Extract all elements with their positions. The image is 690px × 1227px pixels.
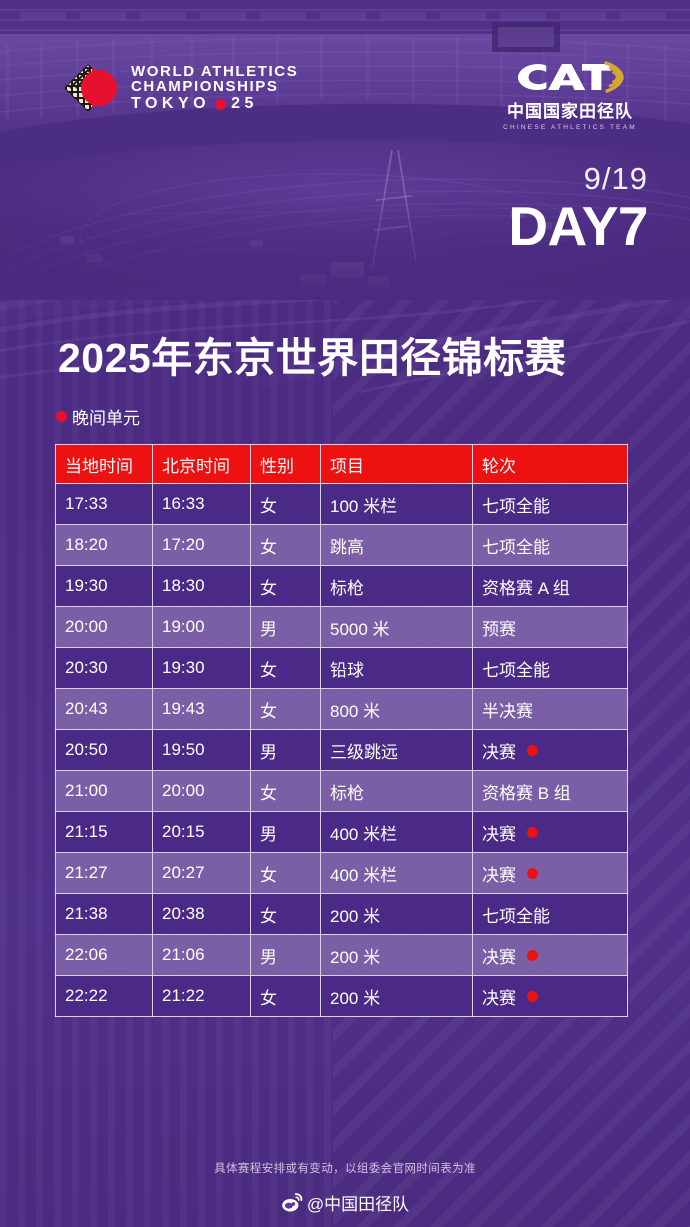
- final-marker-icon: [527, 827, 538, 838]
- table-row: 17:3316:33女100 米栏七项全能: [56, 484, 628, 525]
- cell-event: 标枪: [321, 771, 473, 812]
- round-content: 决赛: [482, 984, 618, 1009]
- cell-gender: 女: [251, 976, 321, 1017]
- footer-social-handle[interactable]: @中国田径队: [0, 1190, 690, 1215]
- round-text: 七项全能: [482, 902, 550, 927]
- date-block: 9/19 DAY7: [508, 163, 648, 256]
- final-marker-icon: [527, 868, 538, 879]
- cell-gender: 女: [251, 648, 321, 689]
- round-content: 决赛: [482, 738, 618, 763]
- cell-beijing-time: 20:38: [153, 894, 251, 935]
- cell-local-time: 17:33: [56, 484, 153, 525]
- cell-local-time: 22:22: [56, 976, 153, 1017]
- cell-event: 200 米: [321, 976, 473, 1017]
- wa-city: TOKYO: [131, 96, 210, 112]
- cell-round: 资格赛 B 组: [473, 771, 628, 812]
- cell-event: 800 米: [321, 689, 473, 730]
- cell-local-time: 20:00: [56, 607, 153, 648]
- cell-local-time: 20:43: [56, 689, 153, 730]
- cell-round: 半决赛: [473, 689, 628, 730]
- footer-disclaimer: 具体赛程安排或有变动，以组委会官网时间表为准: [0, 1160, 690, 1176]
- cell-gender: 女: [251, 894, 321, 935]
- cell-local-time: 21:27: [56, 853, 153, 894]
- cell-beijing-time: 19:43: [153, 689, 251, 730]
- cell-event: 200 米: [321, 935, 473, 976]
- cell-local-time: 20:30: [56, 648, 153, 689]
- column-header-event: 项目: [321, 445, 473, 484]
- table-row: 21:1520:15男400 米栏决赛: [56, 812, 628, 853]
- schedule-table-wrapper: 当地时间 北京时间 性别 项目 轮次 17:3316:33女100 米栏七项全能…: [55, 444, 627, 1017]
- cell-local-time: 22:06: [56, 935, 153, 976]
- team-name-cn: 中国国家田径队: [490, 97, 650, 122]
- round-text: 决赛: [482, 738, 516, 763]
- cell-local-time: 21:00: [56, 771, 153, 812]
- cell-round: 决赛: [473, 976, 628, 1017]
- table-row: 20:4319:43女800 米半决赛: [56, 689, 628, 730]
- cell-round: 预赛: [473, 607, 628, 648]
- round-content: 七项全能: [482, 492, 618, 517]
- cell-round: 七项全能: [473, 525, 628, 566]
- round-content: 预赛: [482, 615, 618, 640]
- round-content: 七项全能: [482, 533, 618, 558]
- cell-event: 5000 米: [321, 607, 473, 648]
- table-row: 18:2017:20女跳高七项全能: [56, 525, 628, 566]
- final-marker-icon: [527, 991, 538, 1002]
- round-content: 七项全能: [482, 902, 618, 927]
- round-text: 七项全能: [482, 533, 550, 558]
- wa-line-1: WORLD ATHLETICS: [131, 64, 298, 79]
- cell-event: 铅球: [321, 648, 473, 689]
- round-text: 决赛: [482, 943, 516, 968]
- cell-beijing-time: 21:06: [153, 935, 251, 976]
- cell-event: 100 米栏: [321, 484, 473, 525]
- final-marker-icon: [527, 745, 538, 756]
- cell-gender: 男: [251, 607, 321, 648]
- cell-beijing-time: 19:30: [153, 648, 251, 689]
- date-value: 9/19: [508, 163, 648, 194]
- cell-gender: 女: [251, 525, 321, 566]
- red-dot-icon: [56, 411, 67, 422]
- round-content: 资格赛 B 组: [482, 779, 618, 804]
- cell-gender: 女: [251, 853, 321, 894]
- round-text: 资格赛 B 组: [482, 779, 571, 804]
- table-row: 22:0621:06男200 米决赛: [56, 935, 628, 976]
- cell-beijing-time: 17:20: [153, 525, 251, 566]
- cell-gender: 女: [251, 689, 321, 730]
- weibo-icon: [281, 1193, 303, 1212]
- round-content: 半决赛: [482, 697, 618, 722]
- cell-beijing-time: 20:15: [153, 812, 251, 853]
- round-text: 七项全能: [482, 656, 550, 681]
- cell-beijing-time: 21:22: [153, 976, 251, 1017]
- column-header-beijing-time: 北京时间: [153, 445, 251, 484]
- cell-round: 决赛: [473, 935, 628, 976]
- table-row: 22:2221:22女200 米决赛: [56, 976, 628, 1017]
- cell-gender: 男: [251, 812, 321, 853]
- world-athletics-logo: WORLD ATHLETICS CHAMPIONSHIPS TOKYO 25: [62, 62, 298, 114]
- cell-round: 资格赛 A 组: [473, 566, 628, 607]
- chinese-athletics-team-logo: 中国国家田径队 CHINESE ATHLETICS TEAM: [490, 58, 650, 131]
- round-content: 七项全能: [482, 656, 618, 681]
- round-text: 半决赛: [482, 697, 533, 722]
- table-row: 21:2720:27女400 米栏决赛: [56, 853, 628, 894]
- tokyo25-emblem-icon: [62, 62, 122, 114]
- cell-beijing-time: 16:33: [153, 484, 251, 525]
- cell-event: 400 米栏: [321, 853, 473, 894]
- cell-event: 200 米: [321, 894, 473, 935]
- cell-gender: 男: [251, 935, 321, 976]
- table-row: 21:0020:00女标枪资格赛 B 组: [56, 771, 628, 812]
- team-name-en: CHINESE ATHLETICS TEAM: [490, 124, 650, 131]
- column-header-local-time: 当地时间: [56, 445, 153, 484]
- cell-event: 400 米栏: [321, 812, 473, 853]
- cat-monogram-icon: [510, 58, 630, 94]
- round-text: 决赛: [482, 984, 516, 1009]
- cell-gender: 女: [251, 566, 321, 607]
- cell-round: 决赛: [473, 730, 628, 771]
- round-text: 决赛: [482, 861, 516, 886]
- cell-beijing-time: 20:00: [153, 771, 251, 812]
- page-title: 2025年东京世界田径锦标赛: [58, 324, 566, 384]
- round-text: 七项全能: [482, 492, 550, 517]
- round-text: 预赛: [482, 615, 516, 640]
- cell-round: 决赛: [473, 812, 628, 853]
- column-header-gender: 性别: [251, 445, 321, 484]
- social-handle-text: @中国田径队: [307, 1190, 409, 1215]
- world-athletics-wordmark: WORLD ATHLETICS CHAMPIONSHIPS TOKYO 25: [131, 64, 298, 112]
- round-content: 决赛: [482, 820, 618, 845]
- cell-round: 七项全能: [473, 484, 628, 525]
- cell-local-time: 21:38: [56, 894, 153, 935]
- final-marker-icon: [527, 950, 538, 961]
- round-content: 资格赛 A 组: [482, 574, 618, 599]
- cell-beijing-time: 19:00: [153, 607, 251, 648]
- round-content: 决赛: [482, 861, 618, 886]
- day-label: DAY7: [508, 198, 648, 256]
- table-header-row: 当地时间 北京时间 性别 项目 轮次: [56, 445, 628, 484]
- cell-gender: 男: [251, 730, 321, 771]
- table-row: 20:3019:30女铅球七项全能: [56, 648, 628, 689]
- wa-line-3: TOKYO 25: [131, 96, 298, 112]
- cell-gender: 女: [251, 771, 321, 812]
- cell-beijing-time: 19:50: [153, 730, 251, 771]
- round-content: 决赛: [482, 943, 618, 968]
- cell-beijing-time: 20:27: [153, 853, 251, 894]
- cell-local-time: 18:20: [56, 525, 153, 566]
- cell-event: 三级跳远: [321, 730, 473, 771]
- schedule-table-head: 当地时间 北京时间 性别 项目 轮次: [56, 445, 628, 484]
- cell-local-time: 19:30: [56, 566, 153, 607]
- wa-line-2: CHAMPIONSHIPS: [131, 79, 298, 94]
- round-text: 资格赛 A 组: [482, 574, 570, 599]
- round-text: 决赛: [482, 820, 516, 845]
- table-row: 20:0019:00男5000 米预赛: [56, 607, 628, 648]
- red-dot-icon: [215, 99, 226, 110]
- cell-beijing-time: 18:30: [153, 566, 251, 607]
- cell-event: 标枪: [321, 566, 473, 607]
- schedule-table-body: 17:3316:33女100 米栏七项全能18:2017:20女跳高七项全能19…: [56, 484, 628, 1017]
- column-header-round: 轮次: [473, 445, 628, 484]
- cell-round: 七项全能: [473, 894, 628, 935]
- table-row: 19:3018:30女标枪资格赛 A 组: [56, 566, 628, 607]
- cell-local-time: 21:15: [56, 812, 153, 853]
- session-label-text: 晚间单元: [72, 404, 140, 429]
- cell-round: 决赛: [473, 853, 628, 894]
- table-row: 21:3820:38女200 米七项全能: [56, 894, 628, 935]
- session-label: 晚间单元: [56, 404, 140, 429]
- cell-event: 跳高: [321, 525, 473, 566]
- table-row: 20:5019:50男三级跳远决赛: [56, 730, 628, 771]
- wa-year: 25: [231, 96, 258, 112]
- cell-round: 七项全能: [473, 648, 628, 689]
- poster-canvas: WORLD ATHLETICS CHAMPIONSHIPS TOKYO 25 中…: [0, 0, 690, 1227]
- cell-gender: 女: [251, 484, 321, 525]
- cell-local-time: 20:50: [56, 730, 153, 771]
- schedule-table: 当地时间 北京时间 性别 项目 轮次 17:3316:33女100 米栏七项全能…: [55, 444, 628, 1017]
